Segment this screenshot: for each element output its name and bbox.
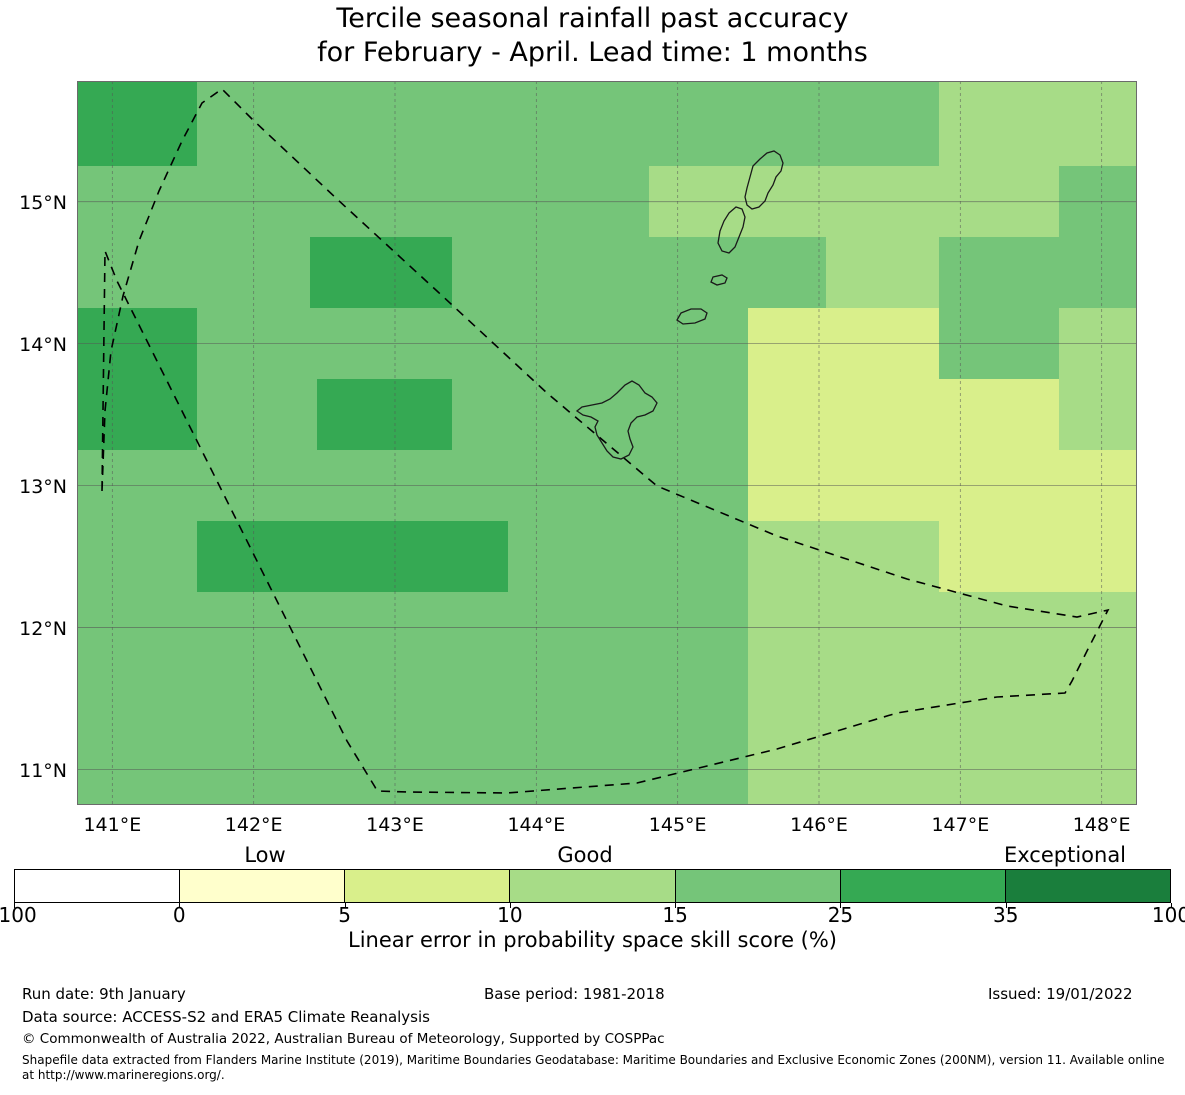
y-axis-tick-label: 14°N (19, 334, 67, 356)
colorbar-tick-mark (179, 903, 180, 908)
colorbar-segment (841, 870, 1006, 902)
colorbar-tick-mark (1171, 903, 1172, 908)
colorbar-tick-mark (345, 903, 346, 908)
y-axis-tick-label: 12°N (19, 618, 67, 640)
x-axis-tick-label: 146°E (790, 814, 848, 836)
map-vector-overlay (77, 81, 1137, 805)
shapefile-attribution: Shapefile data extracted from Flanders M… (22, 1053, 1172, 1083)
colorbar-axis-label: Linear error in probability space skill … (0, 928, 1185, 952)
colorbar-swatches (14, 869, 1171, 903)
colorbar-tick-mark (14, 903, 15, 908)
colorbar-segment (676, 870, 841, 902)
copyright-text: © Commonwealth of Australia 2022, Austra… (22, 1031, 665, 1047)
colorbar-tick-mark (675, 903, 676, 908)
tinian-island-outline (718, 207, 745, 253)
chart-title: Tercile seasonal rainfall past accuracy … (0, 2, 1185, 70)
colorbar-tick-mark (1006, 903, 1007, 908)
x-axis-tick-label: 145°E (649, 814, 707, 836)
x-axis-tick-label: 141°E (83, 814, 141, 836)
footer: Run date: 9th January Base period: 1981-… (0, 985, 1185, 1054)
x-axis-tick-label: 143°E (366, 814, 424, 836)
eez-boundary-line (102, 89, 1108, 793)
colorbar-segment (180, 870, 345, 902)
colorbar-tick-mark (840, 903, 841, 908)
map-plot-area (77, 81, 1137, 805)
data-source: Data source: ACCESS-S2 and ERA5 Climate … (22, 1008, 430, 1026)
rota-island-outline (677, 309, 707, 324)
colorbar-tick-label: -100 (0, 903, 37, 927)
y-axis-tick-label: 11°N (19, 760, 67, 782)
colorbar-tick-mark (510, 903, 511, 908)
guam-island-outline (577, 381, 657, 459)
saipan-island-outline (745, 151, 783, 209)
x-axis-tick-label: 148°E (1073, 814, 1131, 836)
colorbar-segment (510, 870, 675, 902)
aguijan-island-outline (711, 275, 727, 285)
colorbar-quality-label: Low (244, 843, 285, 867)
run-date: Run date: 9th January (22, 985, 186, 1003)
colorbar-segment (1006, 870, 1170, 902)
x-axis-tick-label: 147°E (931, 814, 989, 836)
issued-date: Issued: 19/01/2022 (988, 985, 1133, 1003)
colorbar-tick-label: 100 (1152, 903, 1185, 927)
colorbar (14, 869, 1171, 903)
y-axis-tick-label: 15°N (19, 192, 67, 214)
base-period: Base period: 1981-2018 (484, 985, 665, 1003)
colorbar-segment (15, 870, 180, 902)
colorbar-segment (345, 870, 510, 902)
y-axis-tick-label: 13°N (19, 476, 67, 498)
x-axis-tick-label: 142°E (225, 814, 283, 836)
colorbar-quality-label: Good (557, 843, 612, 867)
colorbar-quality-label: Exceptional (1004, 843, 1126, 867)
x-axis-tick-label: 144°E (507, 814, 565, 836)
